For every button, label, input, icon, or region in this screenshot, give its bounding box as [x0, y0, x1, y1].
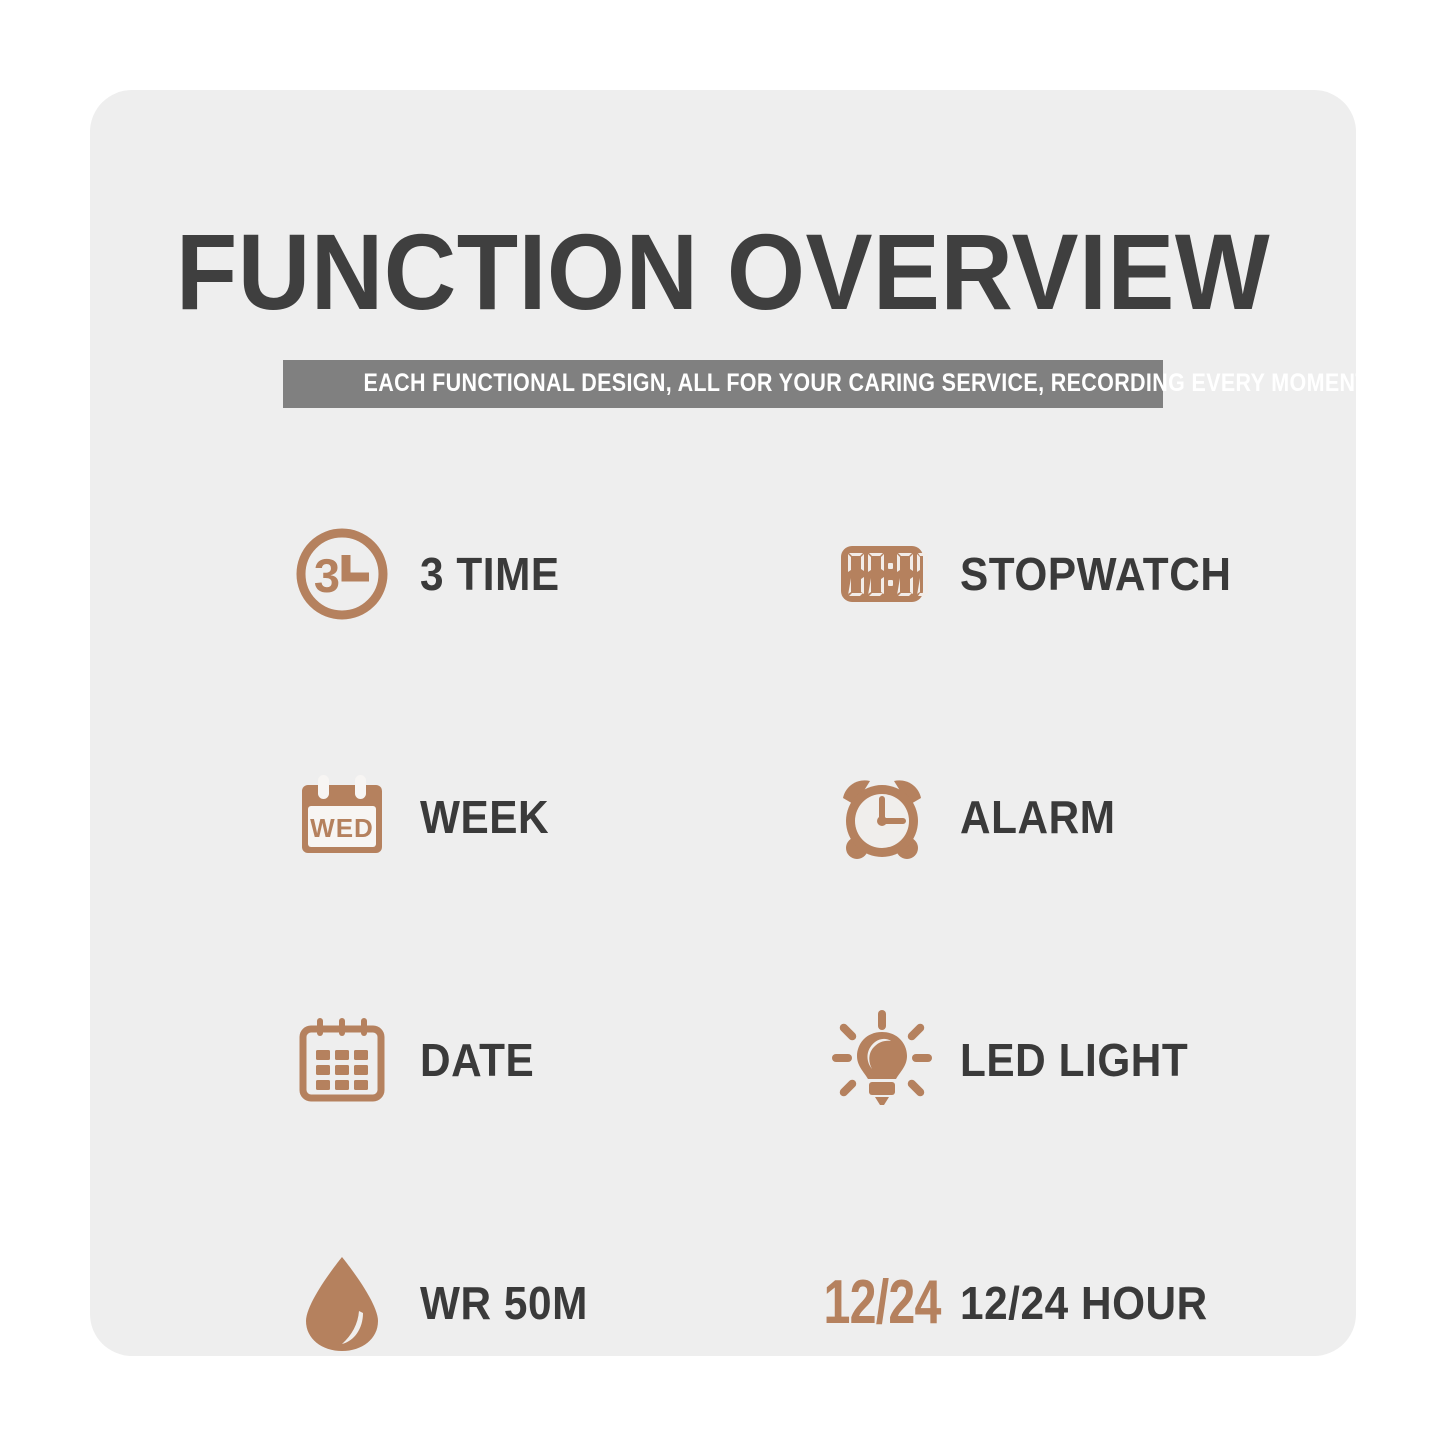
- feature-label-3-time: 3 TIME: [420, 547, 560, 601]
- twelve-twentyfour-glyph-icon: 12/24: [830, 1251, 934, 1355]
- feature-grid: 3 3 TIME: [290, 452, 1340, 1424]
- feature-label-stopwatch: STOPWATCH: [960, 547, 1231, 601]
- feature-label-week: WEEK: [420, 790, 549, 844]
- twelve-twentyfour-glyph-text: 12/24: [823, 1267, 940, 1338]
- feature-label-wr-50m: WR 50M: [420, 1276, 588, 1330]
- three-time-clock-icon: 3: [290, 522, 394, 626]
- svg-text:WED: WED: [310, 813, 374, 843]
- feature-item-date: DATE: [290, 938, 830, 1181]
- function-overview-page: FUNCTION OVERVIEW EACH FUNCTIONAL DESIGN…: [0, 0, 1445, 1445]
- calendar-date-grid-icon: [290, 1008, 394, 1112]
- water-drop-icon: [290, 1251, 394, 1355]
- stopwatch-digital-display-icon: [830, 522, 934, 626]
- feature-item-wr-50m: WR 50M: [290, 1181, 830, 1424]
- feature-item-led-light: LED LIGHT: [830, 938, 1340, 1181]
- feature-item-12-24-hour: 12/24 12/24 HOUR: [830, 1181, 1340, 1424]
- feature-label-led-light: LED LIGHT: [960, 1033, 1188, 1087]
- feature-item-stopwatch: STOPWATCH: [830, 452, 1340, 695]
- page-title: FUNCTION OVERVIEW: [134, 218, 1311, 326]
- svg-text:3: 3: [314, 549, 340, 602]
- alarm-clock-icon: [830, 765, 934, 869]
- header: FUNCTION OVERVIEW EACH FUNCTIONAL DESIGN…: [90, 90, 1356, 408]
- lightbulb-rays-icon: [830, 1008, 934, 1112]
- subtitle-banner: EACH FUNCTIONAL DESIGN, ALL FOR YOUR CAR…: [283, 360, 1163, 408]
- feature-card-panel: FUNCTION OVERVIEW EACH FUNCTIONAL DESIGN…: [90, 90, 1356, 1356]
- subtitle-text: EACH FUNCTIONAL DESIGN, ALL FOR YOUR CAR…: [364, 369, 1083, 398]
- feature-label-alarm: ALARM: [960, 790, 1116, 844]
- feature-label-date: DATE: [420, 1033, 534, 1087]
- feature-item-week: WED WEEK: [290, 695, 830, 938]
- feature-label-12-24-hour: 12/24 HOUR: [960, 1276, 1208, 1330]
- feature-item-3-time: 3 3 TIME: [290, 452, 830, 695]
- feature-item-alarm: ALARM: [830, 695, 1340, 938]
- calendar-week-icon: WED: [290, 765, 394, 869]
